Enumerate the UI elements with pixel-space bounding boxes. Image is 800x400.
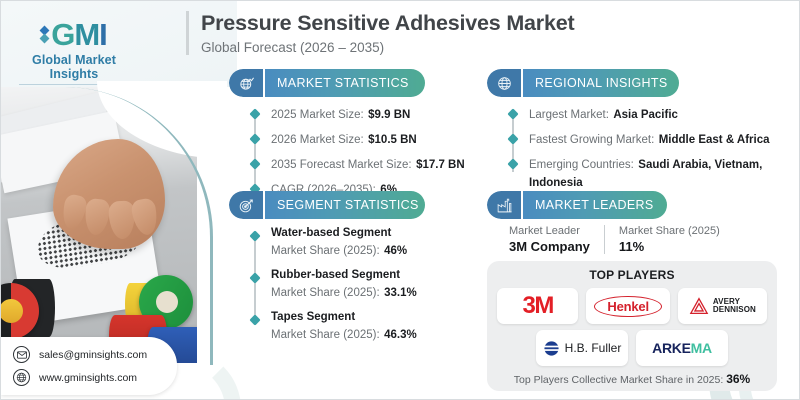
segment-value: 46.3%: [384, 329, 417, 341]
collective-label: Top Players Collective Market Share in 2…: [514, 374, 724, 386]
globe-icon: [487, 69, 521, 97]
segment-label: Market Share (2025):: [271, 245, 380, 257]
region-value: Middle East & Africa: [659, 134, 770, 146]
stat-label: 2025 Market Size:: [271, 109, 364, 121]
collective-value: 36%: [726, 372, 750, 386]
segment-name: Tapes Segment: [271, 311, 479, 323]
region-value: Asia Pacific: [613, 109, 678, 121]
envelope-icon: [13, 346, 30, 363]
logo-text: H.B. Fuller: [565, 341, 622, 355]
list-item: Tapes Segment Market Share (2025): 46.3%: [249, 311, 479, 343]
header-title-block: Pressure Sensitive Adhesives Market Glob…: [186, 11, 574, 55]
logo-wordmark: GMI: [51, 19, 107, 50]
player-logo-arkema[interactable]: ARKEMA: [636, 330, 728, 366]
list-item: Largest Market: Asia Pacific: [507, 105, 775, 123]
logo-text: 3M: [523, 292, 553, 320]
section-header-market-leaders: MARKET LEADERS: [487, 191, 667, 219]
section-title: REGIONAL INSIGHTS: [535, 76, 668, 90]
logo-company-name: Global Market Insights: [11, 53, 137, 81]
contact-website: www.gminsights.com: [39, 372, 137, 384]
avery-triangle-icon: [689, 297, 709, 315]
page-title: Pressure Sensitive Adhesives Market: [201, 11, 574, 36]
contact-email-row[interactable]: sales@gminsights.com: [13, 346, 167, 363]
segment-value: 46%: [384, 245, 407, 257]
leader-value: 3M Company: [509, 239, 590, 254]
segment-statistics-list: Water-based Segment Market Share (2025):…: [249, 227, 479, 350]
section-title: MARKET LEADERS: [535, 198, 654, 212]
region-label: Fastest Growing Market:: [529, 134, 654, 146]
player-logo-avery-dennison[interactable]: AVERY DENNISON: [678, 288, 767, 324]
logo-text: MA: [691, 340, 712, 356]
player-logo-hb-fuller[interactable]: H.B. Fuller: [536, 330, 628, 366]
logo-diamond-icon: [41, 27, 48, 42]
segment-label: Market Share (2025):: [271, 287, 380, 299]
regional-insights-list: Largest Market: Asia Pacific Fastest Gro…: [507, 105, 775, 198]
segment-name: Water-based Segment: [271, 227, 479, 239]
player-logo-henkel[interactable]: Henkel: [586, 288, 669, 324]
list-item: 2026 Market Size: $10.5 BN: [249, 130, 469, 148]
section-title: MARKET STATISTICS: [277, 76, 409, 90]
globe-icon: [13, 369, 30, 386]
leader-label: Market Leader: [509, 225, 590, 237]
contact-card: sales@gminsights.com www.gminsights.com: [1, 337, 177, 395]
market-leader-strip: Market Leader 3M Company Market Share (2…: [509, 225, 734, 254]
stat-value: $9.9 BN: [368, 109, 410, 121]
section-header-segment-statistics: SEGMENT STATISTICS: [229, 191, 425, 219]
stat-value: $10.5 BN: [368, 134, 417, 146]
market-share-block: Market Share (2025) 11%: [604, 225, 734, 254]
section-header-market-statistics: MARKET STATISTICS: [229, 69, 425, 97]
list-item: Water-based Segment Market Share (2025):…: [249, 227, 479, 259]
collective-share: Top Players Collective Market Share in 2…: [497, 372, 767, 386]
list-item: Rubber-based Segment Market Share (2025)…: [249, 269, 479, 301]
section-header-regional-insights: REGIONAL INSIGHTS: [487, 69, 679, 97]
contact-email: sales@gminsights.com: [39, 349, 147, 361]
share-label: Market Share (2025): [619, 225, 720, 237]
segment-value: 33.1%: [384, 287, 417, 299]
section-title: SEGMENT STATISTICS: [277, 198, 419, 212]
region-label: Emerging Countries:: [529, 159, 634, 171]
stat-label: 2035 Forecast Market Size:: [271, 159, 412, 171]
list-item: 2025 Market Size: $9.9 BN: [249, 105, 469, 123]
factory-icon: [487, 191, 521, 219]
market-statistics-list: 2025 Market Size: $9.9 BN 2026 Market Si…: [249, 105, 469, 205]
region-label: Largest Market:: [529, 109, 609, 121]
segment-name: Rubber-based Segment: [271, 269, 479, 281]
top-players-card: TOP PLAYERS 3M Henkel AVERY DE: [487, 261, 777, 391]
stat-label: 2026 Market Size:: [271, 134, 364, 146]
player-logo-3m[interactable]: 3M: [497, 288, 578, 324]
list-item: Fastest Growing Market: Middle East & Af…: [507, 130, 775, 148]
globe-chart-icon: [229, 69, 263, 97]
stat-value: $17.7 BN: [416, 159, 465, 171]
target-arrow-icon: [229, 191, 263, 219]
list-item: 2035 Forecast Market Size: $17.7 BN: [249, 155, 469, 173]
market-leader-block: Market Leader 3M Company: [509, 225, 604, 254]
list-item: Emerging Countries: Saudi Arabia, Vietna…: [507, 155, 775, 191]
hb-fuller-mark-icon: [543, 340, 560, 357]
logo-text: DENNISON: [713, 305, 756, 314]
segment-label: Market Share (2025):: [271, 329, 380, 341]
logo-text: Henkel: [594, 296, 661, 317]
infographic-page: GMI Global Market Insights Insights to I…: [0, 0, 800, 400]
contact-website-row[interactable]: www.gminsights.com: [13, 369, 167, 386]
logo-text: ARKE: [652, 340, 690, 356]
share-value: 11%: [619, 239, 720, 254]
top-players-title: TOP PLAYERS: [497, 268, 767, 282]
page-subtitle: Global Forecast (2026 – 2035): [201, 40, 574, 55]
